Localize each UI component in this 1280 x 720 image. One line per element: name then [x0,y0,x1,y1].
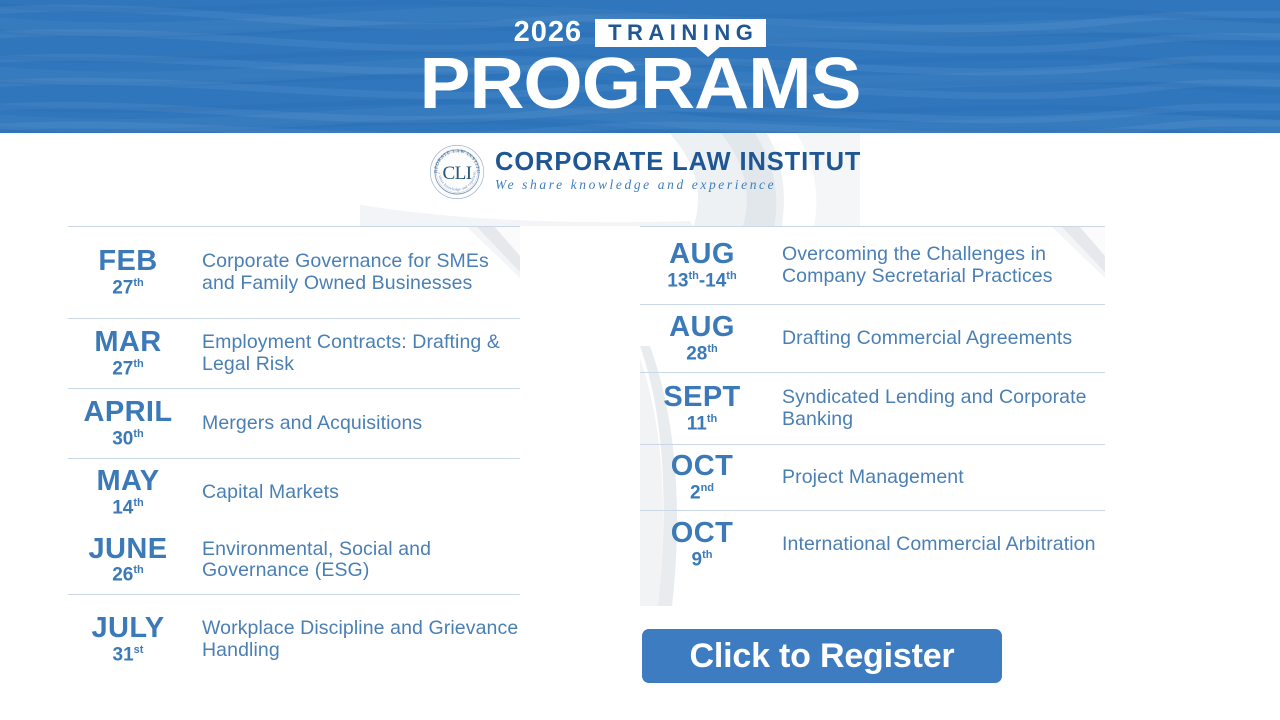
schedule-row-topic: Drafting Commercial Agreements [782,328,1072,349]
schedule-row[interactable]: AUG13th-14thOvercoming the Challenges in… [640,226,1105,304]
schedule-row-month: APRIL [68,398,188,428]
schedule-row-month: SEPT [640,383,764,413]
schedule-row-month: AUG [640,240,764,270]
schedule-row-day: 11th [640,414,764,434]
schedule-row-date: SEPT11th [640,383,764,434]
schedule-row[interactable]: OCT2ndProject Management [640,444,1105,510]
schedule-row[interactable]: JUNE26thEnvironmental, Social and Govern… [68,526,520,594]
schedule-row-topic: Corporate Governance for SMEs and Family… [202,251,520,293]
schedule-card-left: FEB27thCorporate Governance for SMEs and… [68,226,520,692]
schedule-row-topic: Environmental, Social and Governance (ES… [202,539,520,581]
schedule-row-date: MAY14th [68,467,188,518]
schedule-row[interactable]: MAR27thEmployment Contracts: Drafting & … [68,318,520,388]
schedule-row-topic: Employment Contracts: Drafting & Legal R… [202,332,520,374]
schedule-row-topic: Mergers and Acquisitions [202,413,422,434]
schedule-row-day: 31st [68,645,188,665]
training-programs-flyer: 2026 TRAINING PROGRAMS [0,0,1280,720]
schedule-row-topic: Capital Markets [202,482,339,503]
schedule-row[interactable]: OCT9thInternational Commercial Arbitrati… [640,510,1105,578]
schedule-row-day: 26th [68,565,188,585]
institute-name: CORPORATE LAW INSTITUTE [495,149,860,176]
logo-band: CORPORATE LAW INSTITUTE We share knowled… [360,133,860,226]
schedule-card-right: AUG13th-14thOvercoming the Challenges in… [640,226,1105,606]
schedule-row-date: AUG13th-14th [640,240,764,291]
schedule-row-month: OCT [640,452,764,482]
schedule-row-day: 30th [68,429,188,449]
schedule-row-topic: Syndicated Lending and Corporate Banking [782,387,1105,429]
schedule-row-date: OCT9th [640,519,764,570]
banner-title: PROGRAMS [420,51,861,117]
schedule-row[interactable]: AUG28thDrafting Commercial Agreements [640,304,1105,372]
schedule-row-date: OCT2nd [640,452,764,503]
schedule-row-month: JULY [68,614,188,644]
schedule-row-date: JUNE26th [68,535,188,586]
header-banner: 2026 TRAINING PROGRAMS [0,0,1280,133]
schedule-row-day: 2nd [640,483,764,503]
schedule-row[interactable]: MAY14thCapital Markets [68,458,520,526]
schedule-row-day: 27th [68,278,188,298]
schedule-row-date: MAR27th [68,328,188,379]
schedule-row-topic: International Commercial Arbitration [782,534,1096,555]
schedule-row-topic: Overcoming the Challenges in Company Sec… [782,244,1105,286]
cli-seal-icon: CORPORATE LAW INSTITUTE We share knowled… [428,143,486,201]
schedule-row-day: 28th [640,344,764,364]
schedule-row[interactable]: SEPT11thSyndicated Lending and Corporate… [640,372,1105,444]
left-schedule-rows: FEB27thCorporate Governance for SMEs and… [68,226,520,684]
schedule-row-date: APRIL30th [68,398,188,449]
right-schedule-rows: AUG13th-14thOvercoming the Challenges in… [640,226,1105,578]
schedule-row-day: 27th [68,359,188,379]
click-to-register-button[interactable]: Click to Register [642,629,1002,683]
schedule-row-day: 9th [640,550,764,570]
schedule-row-month: OCT [640,519,764,549]
schedule-row-topic: Workplace Discipline and Grievance Handl… [202,618,520,660]
schedule-row-topic: Project Management [782,467,964,488]
schedule-row-day: 13th-14th [640,271,764,291]
schedule-row-month: MAR [68,328,188,358]
svg-text:CLI: CLI [442,163,471,184]
schedule-row-month: FEB [68,247,188,277]
schedule-row-month: MAY [68,467,188,497]
schedule-row-day: 14th [68,498,188,518]
schedule-row-date: FEB27th [68,247,188,298]
institute-tagline: We share knowledge and experience [495,176,860,195]
register-button-label: Click to Register [690,639,955,673]
schedule-row-month: JUNE [68,535,188,565]
banner-training-badge: TRAINING [595,19,766,47]
schedule-row-month: AUG [640,313,764,343]
schedule-row-date: JULY31st [68,614,188,665]
schedule-row[interactable]: FEB27thCorporate Governance for SMEs and… [68,226,520,318]
banner-training-label: TRAINING [595,19,766,47]
institute-logo: CORPORATE LAW INSTITUTE We share knowled… [428,143,860,201]
schedule-row[interactable]: APRIL30thMergers and Acquisitions [68,388,520,458]
schedule-row[interactable]: JULY31stWorkplace Discipline and Grievan… [68,594,520,684]
schedule-row-date: AUG28th [640,313,764,364]
